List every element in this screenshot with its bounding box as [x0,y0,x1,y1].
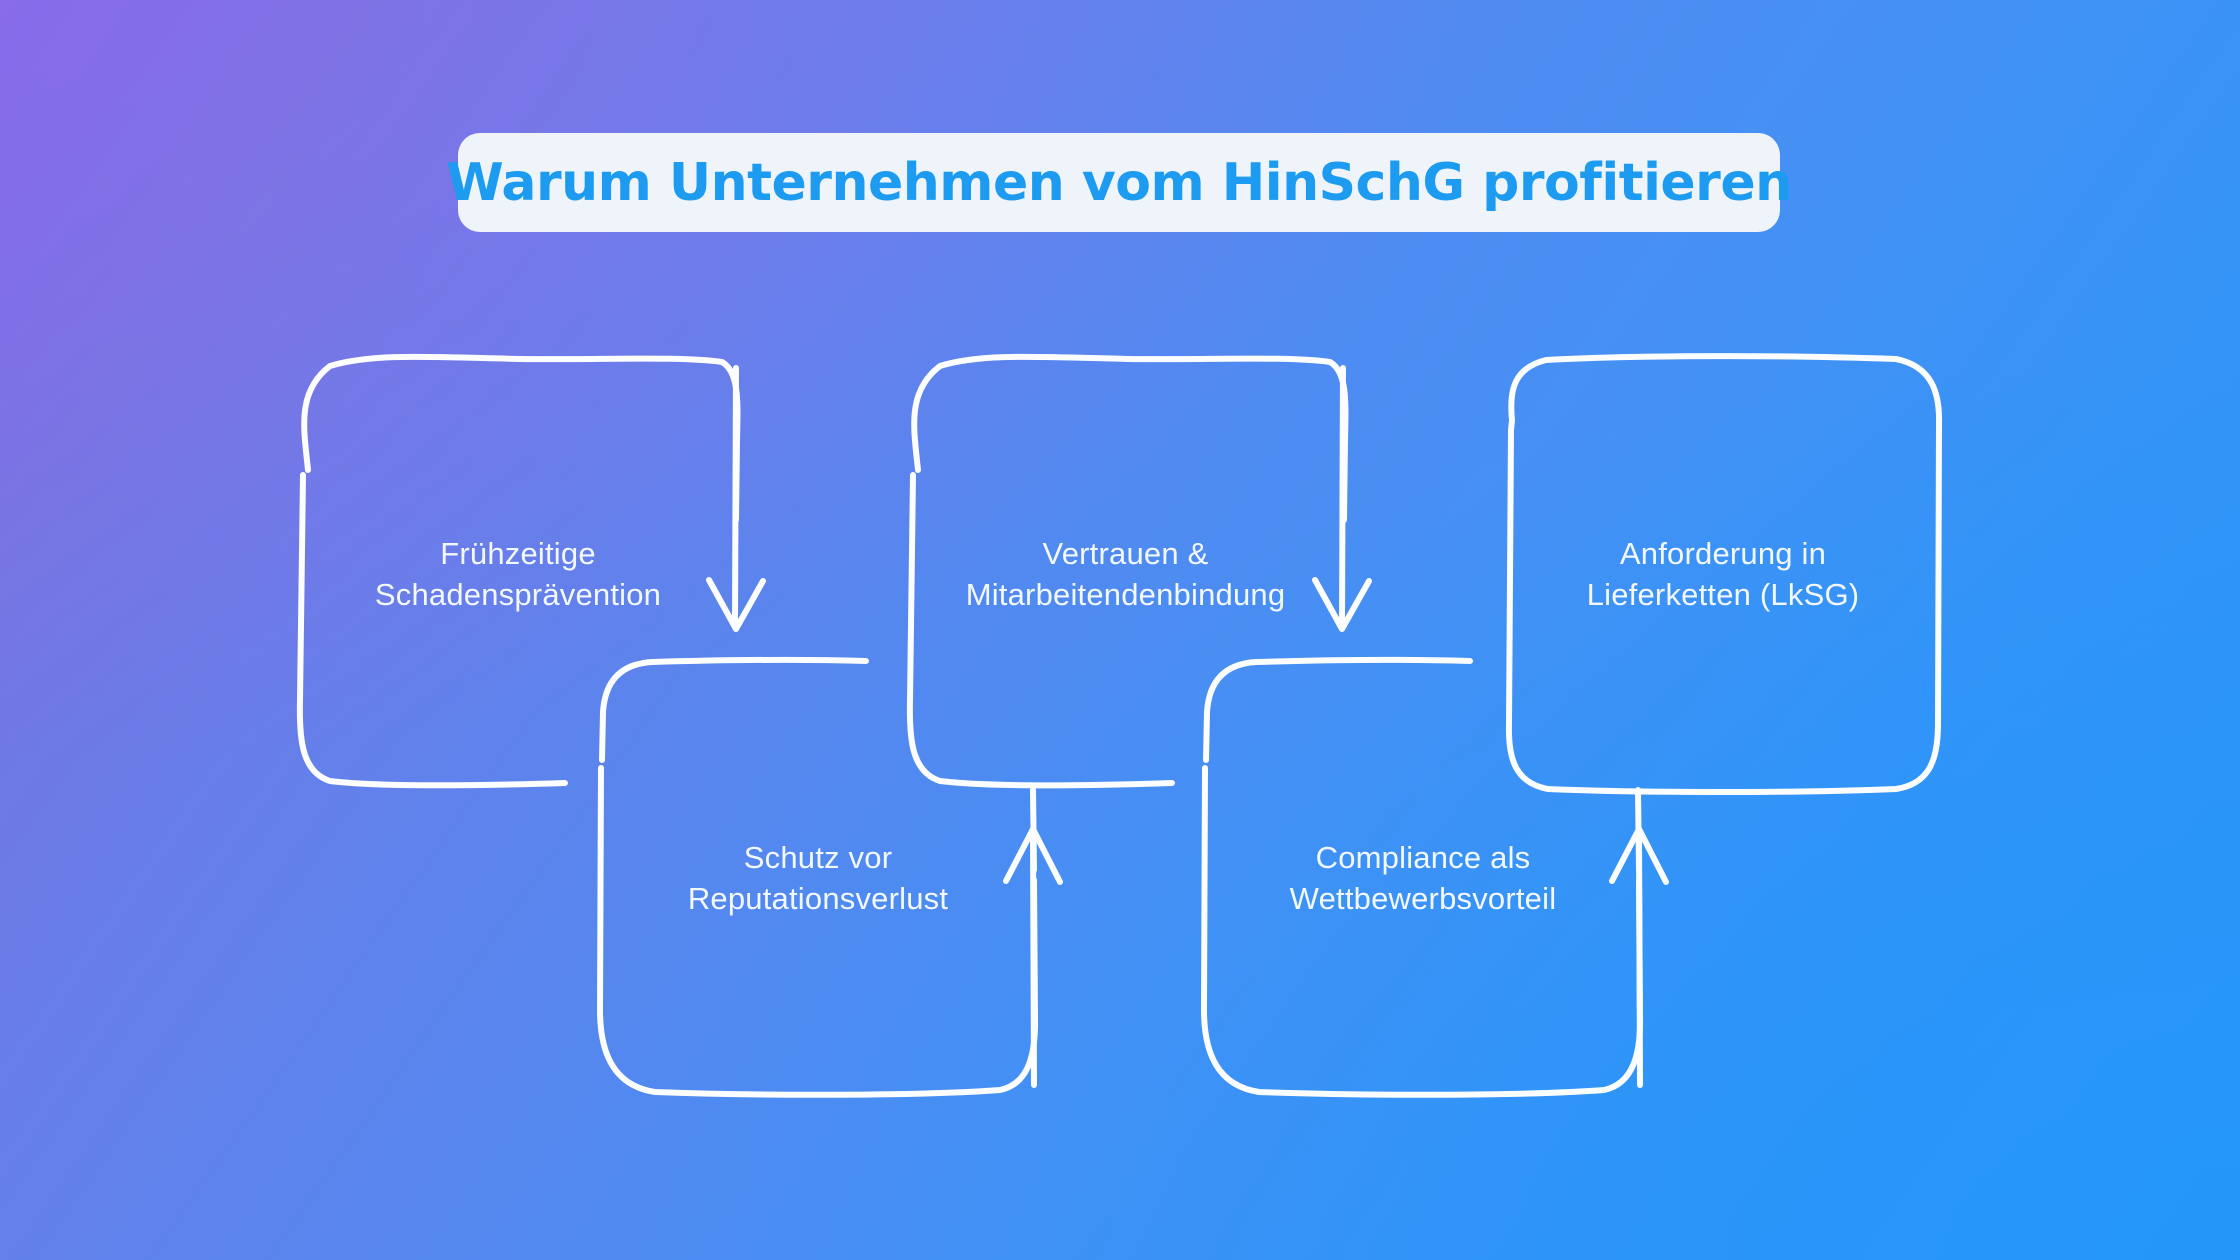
diagram-title-pill: Warum Unternehmen vom HinSchG profitiere… [458,133,1780,232]
node-5-label: Anforderung in Lieferketten (LkSG) [1579,533,1868,615]
node-1-label: Frühzeitige Schadensprävention [367,533,669,615]
node-4-label: Compliance als Wettbewerbsvorteil [1282,837,1565,919]
page-title: Warum Unternehmen vom HinSchG profitiere… [446,153,1791,213]
node-2-label: Schutz vor Reputationsverlust [680,837,956,919]
node-3-label: Vertrauen & Mitarbeitendenbindung [958,533,1294,615]
diagram-canvas: Warum Unternehmen vom HinSchG profitiere… [0,0,2240,1260]
node-5[interactable]: Anforderung in Lieferketten (LkSG) [1505,358,1941,790]
